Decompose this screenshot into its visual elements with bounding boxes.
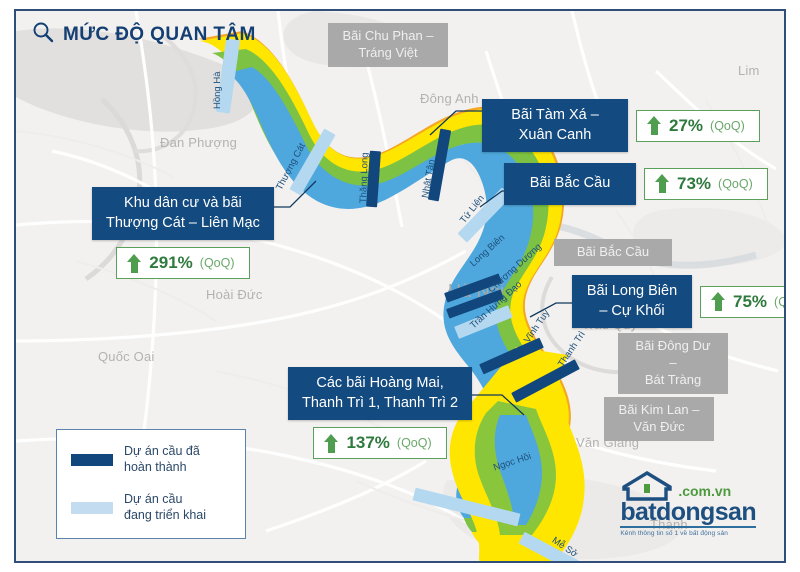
house-icon bbox=[620, 471, 674, 501]
callout-title: Khu dân cư và bãi Thượng Cát – Liên Mạc bbox=[92, 187, 274, 240]
callout-title: Bãi Tàm Xá – Xuân Canh bbox=[482, 99, 628, 152]
stat-percent: 291% bbox=[149, 253, 192, 273]
legend-item-done: Dự án cầu đã hoàn thành bbox=[71, 444, 233, 475]
arrow-up-icon bbox=[711, 292, 726, 311]
gray-tag-bac-cau: Bãi Bắc Cầu bbox=[554, 239, 672, 266]
legend-label-plan: Dự án cầu đang triển khai bbox=[124, 492, 206, 523]
stat-percent: 73% bbox=[677, 174, 711, 194]
legend-swatch-done-icon bbox=[71, 454, 113, 466]
arrow-up-icon bbox=[324, 434, 339, 453]
arrow-up-icon bbox=[127, 254, 142, 273]
callout-title: Các bãi Hoàng Mai, Thanh Trì 1, Thanh Tr… bbox=[288, 367, 472, 420]
callout-thuong-cat-lien-mac[interactable]: Khu dân cư và bãi Thượng Cát – Liên Mạc … bbox=[92, 187, 274, 279]
gray-tag-chu-phan: Bãi Chu Phan – Tráng Việt bbox=[328, 23, 448, 67]
logo-tagline: Kênh thông tin số 1 về bất động sản bbox=[620, 530, 756, 537]
stat-period: (QoQ) bbox=[774, 295, 786, 309]
gray-tag-kim-lan: Bãi Kim Lan – Văn Đức bbox=[604, 397, 714, 441]
stat-badge: 27% (QoQ) bbox=[636, 110, 760, 142]
callout-hoang-mai-thanh-tri[interactable]: Các bãi Hoàng Mai, Thanh Trì 1, Thanh Tr… bbox=[288, 367, 472, 459]
callout-title: Bãi Bắc Cầu bbox=[504, 163, 636, 205]
callout-title: Bãi Long Biên – Cự Khối bbox=[572, 275, 692, 328]
map-frame: Đan Phượng Đông Anh Lim Hoài Đức Quốc Oa… bbox=[14, 9, 786, 563]
gray-tag-dong-du: Bãi Đông Dư – Bát Tràng bbox=[618, 333, 728, 394]
callout-long-bien-cu-khoi[interactable]: Bãi Long Biên – Cự Khối 75% (QoQ) bbox=[572, 275, 786, 328]
legend-item-plan: Dự án cầu đang triển khai bbox=[71, 492, 233, 523]
header: MỨC ĐỘ QUAN TÂM bbox=[32, 21, 256, 48]
arrow-up-icon bbox=[655, 174, 670, 193]
stat-percent: 137% bbox=[346, 433, 389, 453]
stat-period: (QoQ) bbox=[397, 436, 432, 450]
infographic-root: Đan Phượng Đông Anh Lim Hoài Đức Quốc Oa… bbox=[0, 0, 800, 572]
stat-badge: 73% (QoQ) bbox=[644, 168, 768, 200]
brand-logo[interactable]: .com.vn batdongsan Kênh thông tin số 1 v… bbox=[620, 471, 756, 537]
legend-swatch-plan-icon bbox=[71, 502, 113, 514]
page-title: MỨC ĐỘ QUAN TÂM bbox=[63, 24, 256, 46]
stat-period: (QoQ) bbox=[200, 256, 235, 270]
callout-tam-xa-xuan-canh[interactable]: Bãi Tàm Xá – Xuân Canh 27% (QoQ) bbox=[482, 99, 760, 152]
stat-badge: 137% (QoQ) bbox=[313, 427, 446, 459]
search-icon bbox=[32, 21, 54, 48]
callout-bac-cau[interactable]: Bãi Bắc Cầu 73% (QoQ) bbox=[504, 163, 768, 205]
arrow-up-icon bbox=[647, 116, 662, 135]
legend: Dự án cầu đã hoàn thành Dự án cầu đang t… bbox=[56, 429, 246, 539]
legend-label-done: Dự án cầu đã hoàn thành bbox=[124, 444, 200, 475]
stat-period: (QoQ) bbox=[710, 119, 745, 133]
stat-badge: 75% (QoQ) bbox=[700, 286, 786, 318]
logo-brand: batdongsan bbox=[620, 501, 756, 525]
stat-period: (QoQ) bbox=[718, 177, 753, 191]
stat-badge: 291% (QoQ) bbox=[116, 247, 249, 279]
logo-tld: .com.vn bbox=[678, 483, 731, 499]
stat-percent: 75% bbox=[733, 292, 767, 312]
logo-rule bbox=[620, 526, 756, 528]
stat-percent: 27% bbox=[669, 116, 703, 136]
